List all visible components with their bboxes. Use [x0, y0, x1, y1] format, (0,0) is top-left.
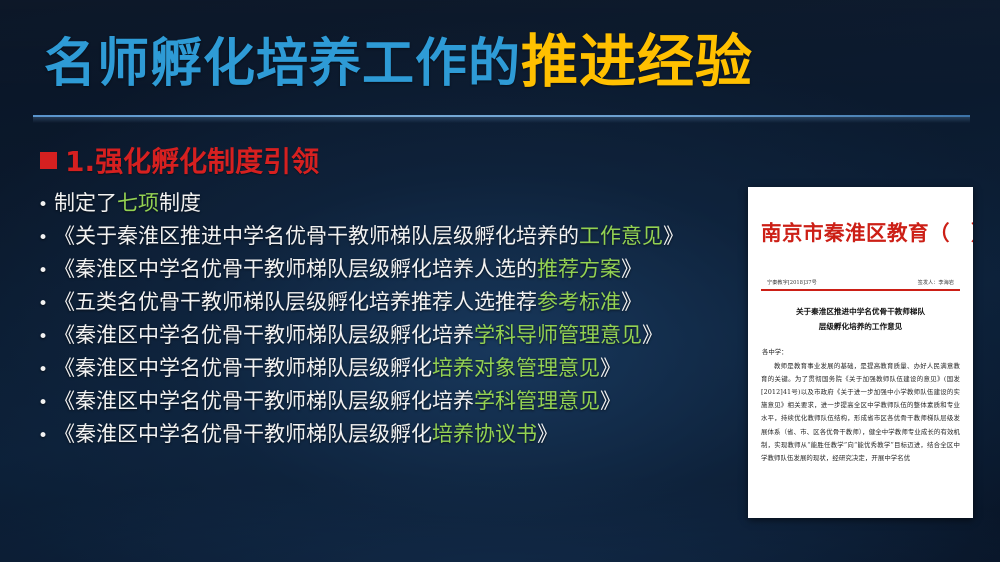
list-item-post: 制度 [159, 191, 201, 215]
list-item: • 《秦淮区中学名优骨干教师梯队层级孵化培养人选的推荐方案》 [38, 259, 738, 292]
list-item-post: 》 [621, 290, 642, 314]
page-title-gold-part: 推进经验 [521, 29, 753, 95]
document-salutation: 各中学： [762, 347, 960, 356]
list-item-post: 》 [600, 356, 621, 380]
bullet-dot-icon: • [38, 395, 54, 412]
document-scan-image: 南京市秦淮区教育（ ） 宁秦教字[2018]37号 签发人：李海岩 关于秦淮区推… [748, 187, 973, 518]
page-title-blue-part: 名师孵化培养工作的 [44, 34, 521, 94]
document-title-line-1: 关于秦淮区推进中学名优骨干教师梯队 [761, 304, 960, 319]
list-item-highlight: 工作意见 [579, 224, 663, 248]
list-item-pre: 《秦淮区中学名优骨干教师梯队层级孵化 [54, 422, 432, 446]
document-signer: 签发人：李海岩 [918, 279, 954, 286]
document-title-line-2: 层级孵化培养的工作意见 [761, 319, 960, 334]
list-item-text: 《秦淮区中学名优骨干教师梯队层级孵化培养学科管理意见》 [54, 391, 621, 412]
list-item: • 《秦淮区中学名优骨干教师梯队层级孵化培养协议书》 [38, 424, 738, 457]
document-red-rule [761, 289, 960, 291]
list-item-pre: 《秦淮区中学名优骨干教师梯队层级孵化培养 [54, 323, 474, 347]
bullet-dot-icon: • [38, 428, 54, 445]
list-item-text: 《秦淮区中学名优骨干教师梯队层级孵化培养对象管理意见》 [54, 358, 621, 379]
list-item: • 《秦淮区中学名优骨干教师梯队层级孵化培养学科管理意见》 [38, 391, 738, 424]
bullet-list: • 制定了七项制度 • 《关于秦淮区推进中学名优骨干教师梯队层级孵化培养的工作意… [38, 193, 738, 457]
list-item: • 《秦淮区中学名优骨干教师梯队层级孵化培养学科导师管理意见》 [38, 325, 738, 358]
bullet-dot-icon: • [38, 263, 54, 280]
list-item-text: 《秦淮区中学名优骨干教师梯队层级孵化培养人选的推荐方案》 [54, 259, 642, 280]
list-item-pre: 《秦淮区中学名优骨干教师梯队层级孵化培养 [54, 389, 474, 413]
list-item-text: 《五类名优骨干教师梯队层级孵化培养推荐人选推荐参考标准》 [54, 292, 642, 313]
list-item-post: 》 [600, 389, 621, 413]
list-item-pre: 《五类名优骨干教师梯队层级孵化培养推荐人选推荐 [54, 290, 537, 314]
list-item-highlight: 推荐方案 [537, 257, 621, 281]
section-heading: 1.强化孵化制度引领 [40, 140, 319, 180]
list-item-highlight: 培养对象管理意见 [432, 356, 600, 380]
bullet-dot-icon: • [38, 296, 54, 313]
list-item-pre: 制定了 [54, 191, 117, 215]
title-divider-glow [33, 117, 970, 123]
list-item: • 《五类名优骨干教师梯队层级孵化培养推荐人选推荐参考标准》 [38, 292, 738, 325]
list-item-highlight: 七项 [117, 191, 159, 215]
list-item-highlight: 参考标准 [537, 290, 621, 314]
list-item-text: 《秦淮区中学名优骨干教师梯队层级孵化培养协议书》 [54, 424, 558, 445]
document-number: 宁秦教字[2018]37号 [767, 279, 817, 286]
list-item: • 《关于秦淮区推进中学名优骨干教师梯队层级孵化培养的工作意见》 [38, 226, 738, 259]
list-item-highlight: 学科导师管理意见 [474, 323, 642, 347]
list-item-text: 《秦淮区中学名优骨干教师梯队层级孵化培养学科导师管理意见》 [54, 325, 663, 346]
list-item-pre: 《秦淮区中学名优骨干教师梯队层级孵化培养人选的 [54, 257, 537, 281]
document-body-paragraph: 教师是教育事业发展的基础，是提高教育质量、办好人民满意教育的关键。为了贯彻国务院… [761, 360, 960, 465]
list-item-pre: 《关于秦淮区推进中学名优骨干教师梯队层级孵化培养的 [54, 224, 579, 248]
section-heading-label: 1.强化孵化制度引领 [65, 140, 319, 180]
list-item-text: 制定了七项制度 [54, 193, 201, 214]
document-title: 关于秦淮区推进中学名优骨干教师梯队 层级孵化培养的工作意见 [761, 304, 960, 334]
document-content: 南京市秦淮区教育（ ） 宁秦教字[2018]37号 签发人：李海岩 关于秦淮区推… [761, 197, 960, 514]
list-item-post: 》 [642, 323, 663, 347]
page-title: 名师孵化培养工作的推进经验 [44, 32, 753, 92]
list-item-post: 》 [537, 422, 558, 446]
list-item-post: 》 [621, 257, 642, 281]
document-meta-row: 宁秦教字[2018]37号 签发人：李海岩 [761, 279, 960, 286]
document-body: 教师是教育事业发展的基础，是提高教育质量、办好人民满意教育的关键。为了贯彻国务院… [761, 360, 960, 465]
list-item-highlight: 学科管理意见 [474, 389, 600, 413]
list-item-highlight: 培养协议书 [432, 422, 537, 446]
bullet-dot-icon: • [38, 197, 54, 214]
list-item-text: 《关于秦淮区推进中学名优骨干教师梯队层级孵化培养的工作意见》 [54, 226, 684, 247]
bullet-dot-icon: • [38, 362, 54, 379]
document-masthead: 南京市秦淮区教育（ ） [761, 216, 960, 246]
list-item: • 制定了七项制度 [38, 193, 738, 226]
list-item-pre: 《秦淮区中学名优骨干教师梯队层级孵化 [54, 356, 432, 380]
square-bullet-icon [40, 152, 57, 169]
bullet-dot-icon: • [38, 230, 54, 247]
list-item: • 《秦淮区中学名优骨干教师梯队层级孵化培养对象管理意见》 [38, 358, 738, 391]
bullet-dot-icon: • [38, 329, 54, 346]
title-divider [33, 115, 970, 117]
list-item-post: 》 [663, 224, 684, 248]
slide-canvas: 名师孵化培养工作的推进经验 1.强化孵化制度引领 • 制定了七项制度 • 《关于… [0, 0, 1000, 562]
